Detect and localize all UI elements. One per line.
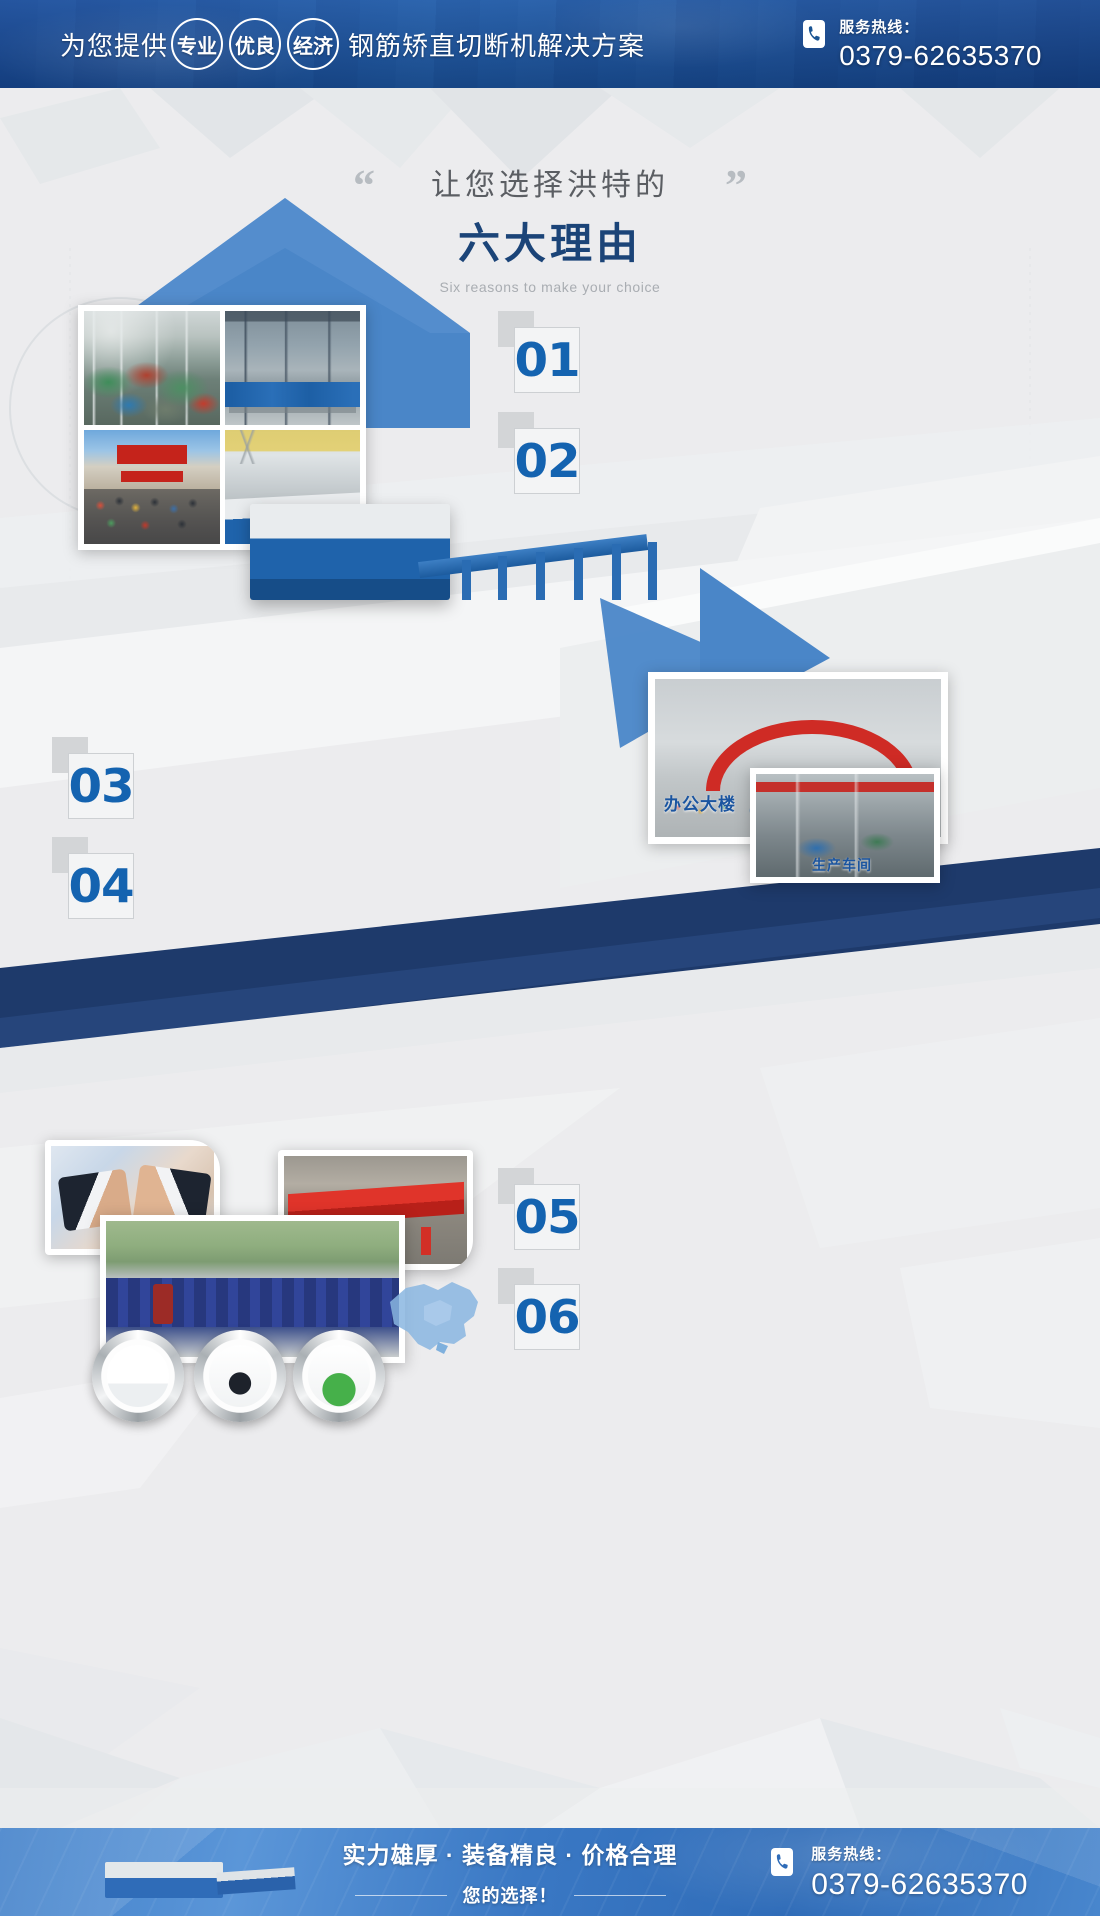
reason-badge-05: 05 bbox=[514, 1184, 580, 1250]
badge-number: 06 bbox=[514, 1294, 579, 1340]
title-line1: 让您选择洪特的 bbox=[431, 169, 669, 202]
photo-straightening-machine bbox=[250, 470, 680, 600]
footer-machine-rail bbox=[216, 1867, 295, 1894]
section-title: “ 让您选择洪特的 ” 六大理由 Six reasons to make you… bbox=[0, 160, 1100, 295]
quote-open-icon: “ bbox=[353, 164, 375, 208]
promo-page: 为您提供 专业 优良 经济 钢筋矫直切断机解决方案 服务热线： 0379-626… bbox=[0, 0, 1100, 1916]
reason-badge-01: 01 bbox=[514, 327, 580, 393]
badge-number: 05 bbox=[514, 1194, 579, 1240]
phone-icon bbox=[803, 20, 825, 48]
header-phone-number: 0379-62635370 bbox=[839, 40, 1042, 72]
badge-number: 02 bbox=[514, 438, 579, 484]
header-phone-block: 服务热线： 0379-62635370 bbox=[839, 16, 1042, 72]
badge-box: 05 bbox=[514, 1184, 580, 1250]
footer-slogan: 实力雄厚 · 装备精良 · 价格合理 bbox=[343, 1836, 678, 1870]
header-slogan-prefix: 为您提供 bbox=[60, 26, 168, 63]
badge-box: 02 bbox=[514, 428, 580, 494]
coin-badge-growth bbox=[293, 1330, 385, 1422]
page-header: 为您提供 专业 优良 经济 钢筋矫直切断机解决方案 服务热线： 0379-626… bbox=[0, 0, 1100, 88]
page-footer: 实力雄厚 · 装备精良 · 价格合理 您的选择！ 服务热线： 0379-6263… bbox=[0, 1828, 1100, 1916]
header-slogan-suffix: 钢筋矫直切断机解决方案 bbox=[348, 26, 645, 63]
coin-image-team bbox=[209, 1345, 271, 1407]
header-contact: 服务热线： 0379-62635370 bbox=[803, 0, 1042, 88]
machine-leg bbox=[536, 552, 545, 600]
machine-leg bbox=[498, 556, 507, 600]
title-line2: 六大理由 bbox=[0, 210, 1100, 271]
phone-icon bbox=[771, 1848, 793, 1876]
header-hotline-label: 服务热线： bbox=[839, 16, 1042, 37]
footer-phone-block: 服务热线： 0379-62635370 bbox=[811, 1843, 1028, 1902]
header-slogan: 为您提供 专业 优良 经济 钢筋矫直切断机解决方案 bbox=[60, 0, 645, 88]
machine-leg bbox=[648, 542, 657, 600]
reason-badge-06: 06 bbox=[514, 1284, 580, 1350]
header-tag-2: 经济 bbox=[287, 18, 339, 70]
photo-workshop-blue-machine bbox=[225, 311, 361, 425]
header-tag-0: 专业 bbox=[171, 18, 223, 70]
machine-leg bbox=[574, 548, 583, 600]
coin-badge-team bbox=[194, 1330, 286, 1422]
quote-close-icon: ” bbox=[725, 164, 747, 208]
badge-number: 03 bbox=[68, 763, 133, 809]
footer-choice: 您的选择！ bbox=[463, 1882, 558, 1908]
divider-left bbox=[355, 1895, 447, 1896]
title-subtitle: Six reasons to make your choice bbox=[0, 279, 1100, 295]
reason-badge-03: 03 bbox=[68, 753, 134, 819]
footer-hotline-label: 服务热线： bbox=[811, 1843, 1028, 1864]
photo-group-mianshan bbox=[84, 430, 220, 544]
badge-box: 03 bbox=[68, 753, 134, 819]
title-line1-row: “ 让您选择洪特的 ” bbox=[431, 160, 669, 204]
caption-production-workshop: 生产车间 bbox=[812, 855, 872, 875]
footer-machine-body bbox=[105, 1862, 223, 1898]
footer-choice-row: 您的选择！ bbox=[355, 1882, 666, 1908]
machine-leg bbox=[462, 560, 471, 600]
coin-image-strategy bbox=[107, 1345, 169, 1407]
reason-badge-02: 02 bbox=[514, 428, 580, 494]
badge-box: 04 bbox=[68, 853, 134, 919]
coin-badge-strategy bbox=[92, 1330, 184, 1422]
badge-box: 06 bbox=[514, 1284, 580, 1350]
footer-machine-graphic bbox=[105, 1844, 295, 1904]
footer-slogan-block: 实力雄厚 · 装备精良 · 价格合理 您的选择！ bbox=[300, 1828, 720, 1916]
machine-body bbox=[250, 504, 450, 600]
photo-old-factory bbox=[84, 311, 220, 425]
machine-leg bbox=[612, 544, 621, 600]
coin-image-growth bbox=[308, 1345, 370, 1407]
china-map-graphic bbox=[378, 1272, 486, 1358]
badge-number: 04 bbox=[68, 863, 133, 909]
header-tag-1: 优良 bbox=[229, 18, 281, 70]
divider-right bbox=[574, 1895, 666, 1896]
badge-number: 01 bbox=[514, 337, 579, 383]
footer-contact: 服务热线： 0379-62635370 bbox=[771, 1828, 1028, 1916]
caption-office-building: 办公大楼 bbox=[664, 790, 736, 815]
footer-phone-number: 0379-62635370 bbox=[811, 1868, 1028, 1902]
badge-box: 01 bbox=[514, 327, 580, 393]
reason-badge-04: 04 bbox=[68, 853, 134, 919]
